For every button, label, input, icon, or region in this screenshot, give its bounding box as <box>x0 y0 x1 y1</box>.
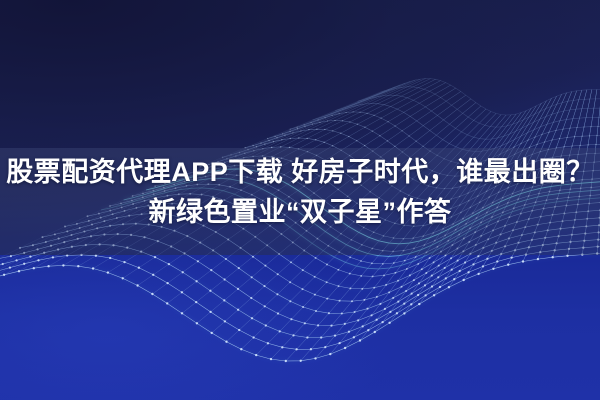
headline-line-1: 股票配资代理APP下载 好房子时代，谁最出圈？ <box>0 152 600 192</box>
headline-line-2: 新绿色置业“双子星”作答 <box>0 192 600 232</box>
promo-banner: 股票配资代理APP下载 好房子时代，谁最出圈？ 新绿色置业“双子星”作答 <box>0 0 600 400</box>
headline: 股票配资代理APP下载 好房子时代，谁最出圈？ 新绿色置业“双子星”作答 <box>0 152 600 232</box>
